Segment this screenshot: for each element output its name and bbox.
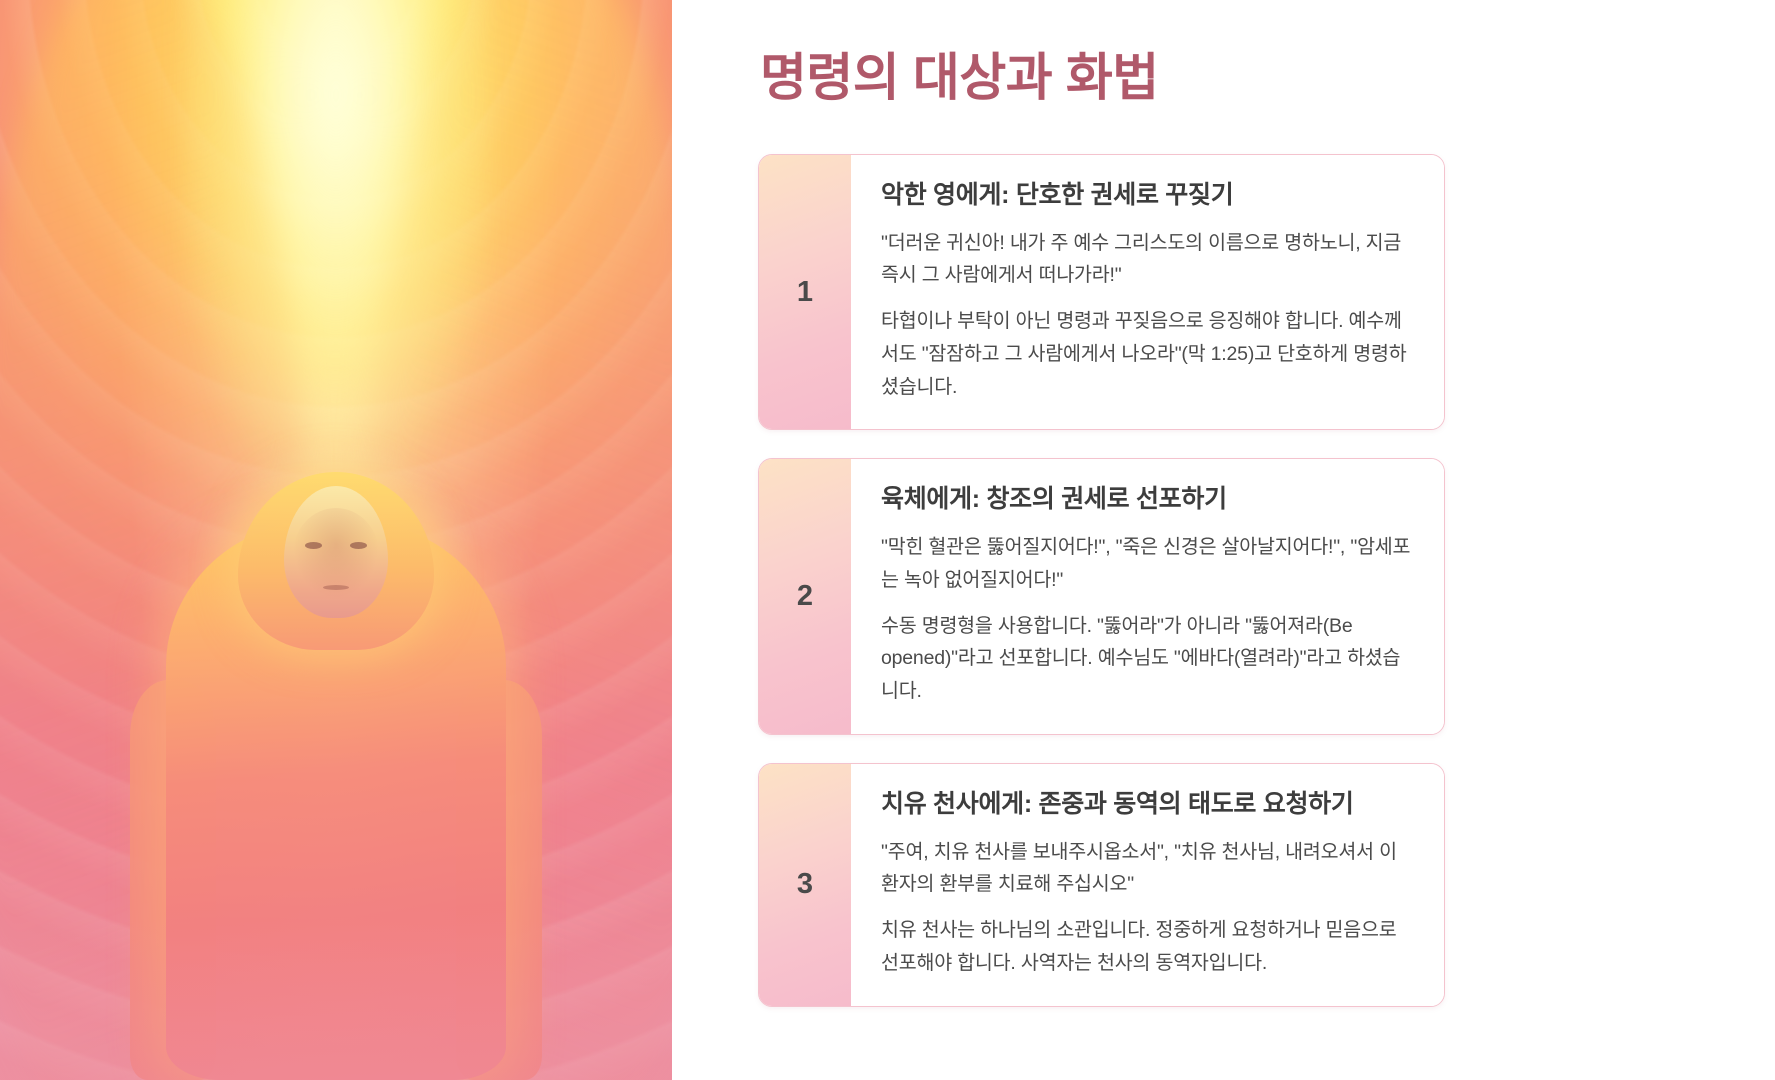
figure-left-eye xyxy=(305,542,322,549)
card-body: 치유 천사에게: 존중과 동역의 태도로 요청하기 "주여, 치유 천사를 보내… xyxy=(851,764,1444,1006)
card-paragraph-quote: "막힌 혈관은 뚫어질지어다!", "죽은 신경은 살아날지어다!", "암세포… xyxy=(881,531,1414,597)
card-paragraph-explanation: 수동 명령형을 사용합니다. "뚫어라"가 아니라 "뚫어져라(Be opene… xyxy=(881,610,1414,708)
list-item[interactable]: 2 육체에게: 창조의 권세로 선포하기 "막힌 혈관은 뚫어질지어다!", "… xyxy=(758,458,1445,735)
card-body: 육체에게: 창조의 권세로 선포하기 "막힌 혈관은 뚫어질지어다!", "죽은… xyxy=(851,459,1444,734)
list-item[interactable]: 1 악한 영에게: 단호한 권세로 꾸짖기 "더러운 귀신아! 내가 주 예수 … xyxy=(758,154,1445,431)
card-number-badge: 2 xyxy=(759,459,851,734)
slide-illustration xyxy=(0,0,672,1080)
card-title: 육체에게: 창조의 권세로 선포하기 xyxy=(881,483,1414,517)
figure-right-eye xyxy=(350,542,367,549)
figure-mouth xyxy=(323,585,349,590)
card-number-badge: 3 xyxy=(759,764,851,1006)
list-item[interactable]: 3 치유 천사에게: 존중과 동역의 태도로 요청하기 "주여, 치유 천사를 … xyxy=(758,763,1445,1007)
card-number-badge: 1 xyxy=(759,155,851,430)
card-paragraph-quote: "주여, 치유 천사를 보내주시옵소서", "치유 천사님, 내려오셔서 이 환… xyxy=(881,836,1414,902)
card-list: 1 악한 영에게: 단호한 권세로 꾸짖기 "더러운 귀신아! 내가 주 예수 … xyxy=(758,154,1445,1007)
card-title: 악한 영에게: 단호한 권세로 꾸짖기 xyxy=(881,179,1414,213)
card-body: 악한 영에게: 단호한 권세로 꾸짖기 "더러운 귀신아! 내가 주 예수 그리… xyxy=(851,155,1444,430)
slide-content: 명령의 대상과 화법 1 악한 영에게: 단호한 권세로 꾸짖기 "더러운 귀신… xyxy=(672,0,1775,1080)
page-title: 명령의 대상과 화법 xyxy=(760,46,1445,110)
card-paragraph-quote: "더러운 귀신아! 내가 주 예수 그리스도의 이름으로 명하노니, 지금 즉시… xyxy=(881,227,1414,293)
presentation-slide: 명령의 대상과 화법 1 악한 영에게: 단호한 권세로 꾸짖기 "더러운 귀신… xyxy=(0,0,1775,1080)
card-paragraph-explanation: 치유 천사는 하나님의 소관입니다. 정중하게 요청하거나 믿음으로 선포해야 … xyxy=(881,914,1414,980)
image-bottom-fade xyxy=(0,920,672,1080)
card-title: 치유 천사에게: 존중과 동역의 태도로 요청하기 xyxy=(881,788,1414,822)
card-paragraph-explanation: 타협이나 부탁이 아닌 명령과 꾸짖음으로 응징해야 합니다. 예수께서도 "잠… xyxy=(881,305,1414,403)
